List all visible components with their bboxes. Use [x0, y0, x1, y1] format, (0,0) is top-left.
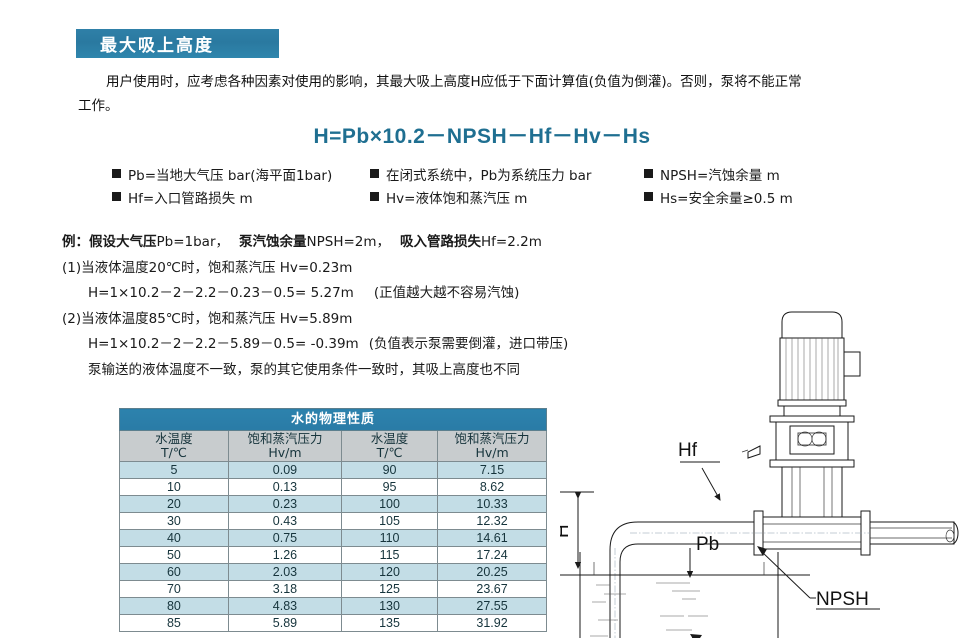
cell-pressure-2: 20.25 — [438, 564, 547, 581]
cell-temp-2: 110 — [342, 530, 438, 547]
legend-row-1: Pb=当地大气压 bar(海平面1bar) 在闭式系统中，Pb为系统压力 bar… — [112, 162, 872, 185]
column-header-line-a: 水温度 — [342, 432, 437, 446]
intro-line-2: 工作。 — [78, 98, 119, 114]
label-h: H — [560, 524, 573, 538]
example-label: 例： — [62, 234, 89, 250]
section-title-bar: 最大吸上高度 — [76, 29, 279, 58]
main-formula: H=Pb×10.2－NPSH－Hf－Hv－Hs — [0, 120, 964, 150]
cell-pressure-1: 1.26 — [228, 547, 341, 564]
column-header-temp-1: 水温度 T/℃ — [120, 431, 229, 462]
cell-pressure-2: 27.55 — [438, 598, 547, 615]
cell-temp-2: 100 — [342, 496, 438, 513]
cell-temp-1: 50 — [120, 547, 229, 564]
cell-temp-2: 115 — [342, 547, 438, 564]
cell-pressure-2: 23.67 — [438, 581, 547, 598]
example-case2-calc: H=1×10.2－2－2.2－5.89－0.5= -0.39m — [88, 336, 359, 352]
table-row: 100.13958.62 — [120, 479, 547, 496]
bullet-square-icon — [370, 192, 379, 201]
legend-item-npsh: NPSH=汽蚀余量 m — [644, 164, 872, 184]
legend-item-hs: Hs=安全余量≥0.5 m — [644, 187, 872, 207]
table-row: 855.8913531.92 — [120, 615, 547, 632]
cell-pressure-1: 0.13 — [228, 479, 341, 496]
cell-temp-2: 135 — [342, 615, 438, 632]
cell-pressure-2: 17.24 — [438, 547, 547, 564]
cell-temp-1: 40 — [120, 530, 229, 547]
table-caption: 水的物理性质 — [120, 409, 547, 431]
example-plain-3: Hf=2.2m — [481, 234, 542, 250]
table-header-row: 水温度 T/℃ 饱和蒸汽压力 Hv/m 水温度 T/℃ 饱和蒸汽压力 Hv/m — [120, 431, 547, 462]
column-header-line-b: T/℃ — [342, 446, 437, 460]
cell-pressure-1: 2.03 — [228, 564, 341, 581]
column-header-pressure-2: 饱和蒸汽压力 Hv/m — [438, 431, 547, 462]
cell-pressure-2: 14.61 — [438, 530, 547, 547]
legend-item-label: Pb=当地大气压 bar(海平面1bar) — [128, 164, 332, 184]
cell-pressure-2: 12.32 — [438, 513, 547, 530]
cell-temp-2: 125 — [342, 581, 438, 598]
column-header-pressure-1: 饱和蒸汽压力 Hv/m — [228, 431, 341, 462]
cell-temp-1: 10 — [120, 479, 229, 496]
legend-item-pb: Pb=当地大气压 bar(海平面1bar) — [112, 164, 370, 184]
table-row: 50.09907.15 — [120, 462, 547, 479]
cell-pressure-1: 0.43 — [228, 513, 341, 530]
example-case1-title: (1)当液体温度20℃时，饱和蒸汽压 Hv=0.23m — [62, 256, 782, 282]
table-body: 50.09907.15100.13958.62200.2310010.33300… — [120, 462, 547, 632]
cell-temp-2: 120 — [342, 564, 438, 581]
example-plain-2: NPSH=2m， — [307, 234, 391, 250]
coupling-lantern — [742, 416, 854, 467]
example-bold-1: 假设大气压 — [89, 234, 157, 250]
legend-item-label: Hf=入口管路损失 m — [128, 187, 253, 207]
table-row: 300.4310512.32 — [120, 513, 547, 530]
example-plain-1: Pb=1bar， — [157, 234, 230, 250]
bullet-square-icon — [644, 169, 653, 178]
bullet-square-icon — [112, 169, 121, 178]
legend-item-closed-system: 在闭式系统中，Pb为系统压力 bar — [370, 164, 644, 184]
table-row: 200.2310010.33 — [120, 496, 547, 513]
label-npsh: NPSH — [816, 589, 869, 610]
cell-pressure-1: 0.75 — [228, 530, 341, 547]
cell-pressure-1: 3.18 — [228, 581, 341, 598]
cell-temp-1: 80 — [120, 598, 229, 615]
cell-pressure-1: 5.89 — [228, 615, 341, 632]
cell-pressure-2: 7.15 — [438, 462, 547, 479]
column-header-line-a: 水温度 — [120, 432, 228, 446]
example-case1-calc: H=1×10.2－2－2.2－0.23－0.5= 5.27m — [88, 285, 354, 301]
example-footer: 泵输送的液体温度不一致，泵的其它使用条件一致时，其吸上高度也不同 — [88, 362, 520, 378]
cell-temp-1: 5 — [120, 462, 229, 479]
column-header-line-a: 饱和蒸汽压力 — [438, 432, 546, 446]
intro-paragraph: 用户使用时，应考虑各种因素对使用的影响，其最大吸上高度H应低于下面计算值(负值为… — [78, 70, 950, 118]
water-properties-table: 水的物理性质 水温度 T/℃ 饱和蒸汽压力 Hv/m 水温度 T/℃ 饱和蒸汽压… — [119, 408, 547, 632]
column-header-temp-2: 水温度 T/℃ — [342, 431, 438, 462]
example-bold-2: 泵汽蚀余量 — [239, 234, 307, 250]
bullet-square-icon — [112, 192, 121, 201]
label-hf: Hf — [678, 440, 698, 461]
cell-temp-1: 30 — [120, 513, 229, 530]
pump-chamber — [782, 467, 842, 517]
legend-item-hv: Hv=液体饱和蒸汽压 m — [370, 187, 644, 207]
bullet-square-icon — [370, 169, 379, 178]
column-header-line-b: T/℃ — [120, 446, 228, 460]
page-title: 最大吸上高度 — [76, 31, 214, 56]
cell-pressure-2: 10.33 — [438, 496, 547, 513]
cell-temp-2: 105 — [342, 513, 438, 530]
example-heading: 例：假设大气压Pb=1bar，泵汽蚀余量NPSH=2m，吸入管路损失Hf=2.2… — [62, 230, 782, 256]
table-row: 400.7511014.61 — [120, 530, 547, 547]
column-header-line-b: Hv/m — [438, 446, 546, 460]
example-bold-3: 吸入管路损失 — [400, 234, 481, 250]
example-case2-note: (负值表示泵需要倒灌，进口带压) — [369, 336, 569, 352]
cell-temp-2: 90 — [342, 462, 438, 479]
table-caption-row: 水的物理性质 — [120, 409, 547, 431]
legend-row-2: Hf=入口管路损失 m Hv=液体饱和蒸汽压 m Hs=安全余量≥0.5 m — [112, 185, 872, 208]
cell-pressure-1: 0.23 — [228, 496, 341, 513]
cell-temp-1: 60 — [120, 564, 229, 581]
column-header-line-b: Hv/m — [229, 446, 341, 460]
water-properties-table-wrapper: 水的物理性质 水温度 T/℃ 饱和蒸汽压力 Hv/m 水温度 T/℃ 饱和蒸汽压… — [119, 408, 547, 632]
cell-temp-2: 95 — [342, 479, 438, 496]
legend-item-label: Hv=液体饱和蒸汽压 m — [386, 187, 527, 207]
table-row: 602.0312020.25 — [120, 564, 547, 581]
liquid-tank — [560, 552, 810, 638]
pump-suction-diagram: .ln1 { fill:none; stroke:#1a1a1a; stroke… — [560, 300, 964, 638]
intro-line-1: 用户使用时，应考虑各种因素对使用的影响，其最大吸上高度H应低于下面计算值(负值为… — [106, 74, 802, 90]
cell-pressure-2: 31.92 — [438, 615, 547, 632]
legend-list: Pb=当地大气压 bar(海平面1bar) 在闭式系统中，Pb为系统压力 bar… — [112, 162, 872, 208]
legend-item-label: 在闭式系统中，Pb为系统压力 bar — [386, 164, 591, 184]
legend-item-label: NPSH=汽蚀余量 m — [660, 164, 780, 184]
motor-assembly — [778, 312, 860, 416]
label-pb: Pb — [696, 534, 719, 555]
cell-pressure-1: 4.83 — [228, 598, 341, 615]
cell-temp-1: 70 — [120, 581, 229, 598]
bullet-square-icon — [644, 192, 653, 201]
table-row: 501.2611517.24 — [120, 547, 547, 564]
legend-item-hf: Hf=入口管路损失 m — [112, 187, 370, 207]
column-header-line-a: 饱和蒸汽压力 — [229, 432, 341, 446]
table-row: 804.8313027.55 — [120, 598, 547, 615]
legend-item-label: Hs=安全余量≥0.5 m — [660, 187, 793, 207]
example-case1-note: (正值越大越不容易汽蚀) — [374, 285, 520, 301]
table-row: 703.1812523.67 — [120, 581, 547, 598]
cell-temp-1: 20 — [120, 496, 229, 513]
cell-temp-1: 85 — [120, 615, 229, 632]
cell-temp-2: 130 — [342, 598, 438, 615]
cell-pressure-2: 8.62 — [438, 479, 547, 496]
cell-pressure-1: 0.09 — [228, 462, 341, 479]
